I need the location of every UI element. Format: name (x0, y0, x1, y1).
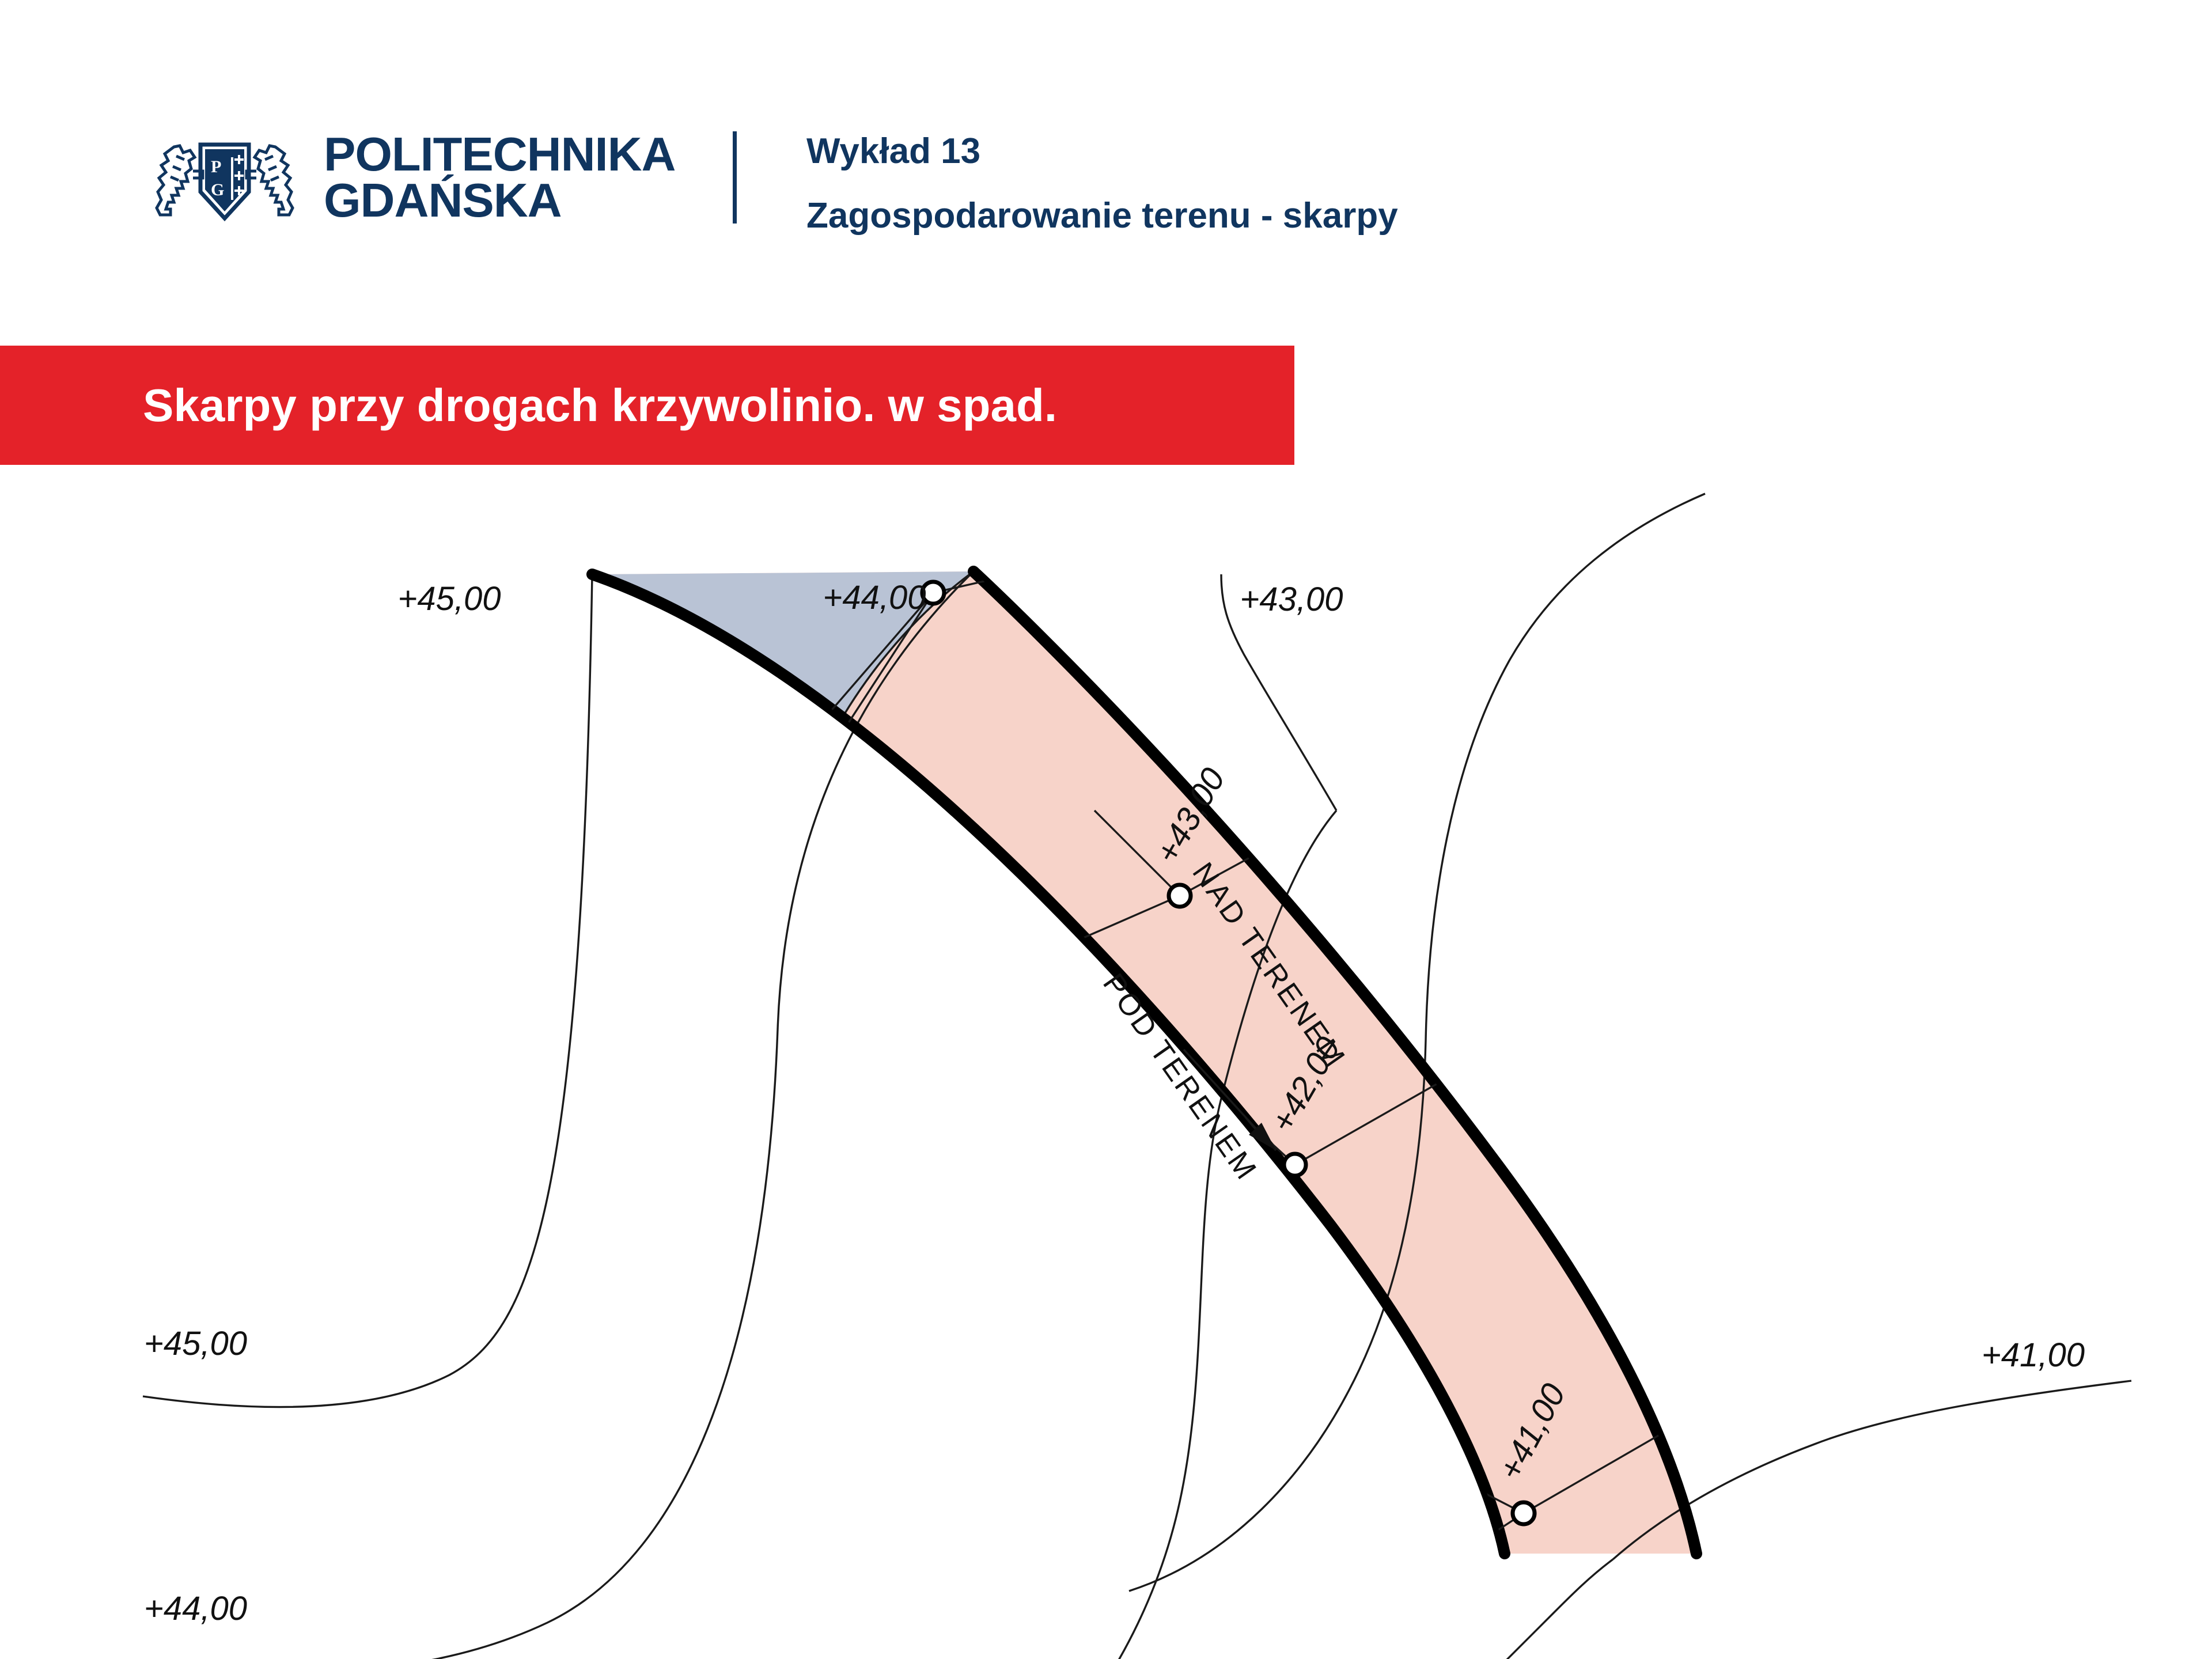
university-wordmark: POLITECHNIKA GDAŃSKA (324, 131, 676, 223)
pg-coat-of-arms-icon: P G (138, 124, 311, 230)
header-title-block: Wykład 13 Zagospodarowanie terenu - skar… (806, 134, 1398, 234)
label-contour-43-top-right: +43,00 (1240, 581, 1343, 618)
slide-title-band: Skarpy przy drogach krzywolinio. w spad. (0, 346, 1294, 465)
slide-header: P G POLITECHNIKA GDAŃSKA Wykład 13 Zagos… (0, 0, 2212, 300)
svg-text:P: P (211, 157, 221, 176)
node-43 (1169, 885, 1191, 907)
node-42 (1284, 1154, 1306, 1176)
header-divider (733, 131, 737, 224)
label-contour-41-right: +41,00 (1982, 1336, 2085, 1374)
svg-text:G: G (211, 180, 224, 199)
contour-41-through-road (1498, 1559, 1613, 1659)
university-logo: P G POLITECHNIKA GDAŃSKA (138, 124, 676, 230)
lecture-subject: Zagospodarowanie terenu - skarpy (806, 198, 1398, 234)
label-node-44: +44,00 (823, 579, 926, 616)
above-ground-zone-fill (518, 522, 1786, 1617)
road-corridor-fills (518, 522, 1786, 1617)
slide-title: Skarpy przy drogach krzywolinio. w spad. (143, 379, 1057, 432)
label-contour-45-top: +45,00 (397, 580, 501, 618)
slope-tick-42-b (1123, 1165, 1295, 1294)
lecture-number: Wykład 13 (806, 134, 1398, 169)
technical-drawing: +45,00 +44,00 +43,00 +45,00 +44,00 +43,0… (0, 465, 2212, 1659)
wordmark-line-2: GDAŃSKA (324, 177, 676, 224)
label-contour-44-left: +44,00 (144, 1590, 247, 1627)
node-41 (1513, 1502, 1535, 1524)
label-contour-45-left: +45,00 (144, 1325, 247, 1362)
contour-45-left (143, 574, 592, 1407)
wordmark-line-1: POLITECHNIKA (324, 131, 676, 177)
slope-tick-41-b (1382, 1513, 1524, 1605)
contour-44-left (143, 571, 974, 1659)
slope-plan-svg: +45,00 +44,00 +43,00 +45,00 +44,00 +43,0… (0, 465, 2212, 1659)
